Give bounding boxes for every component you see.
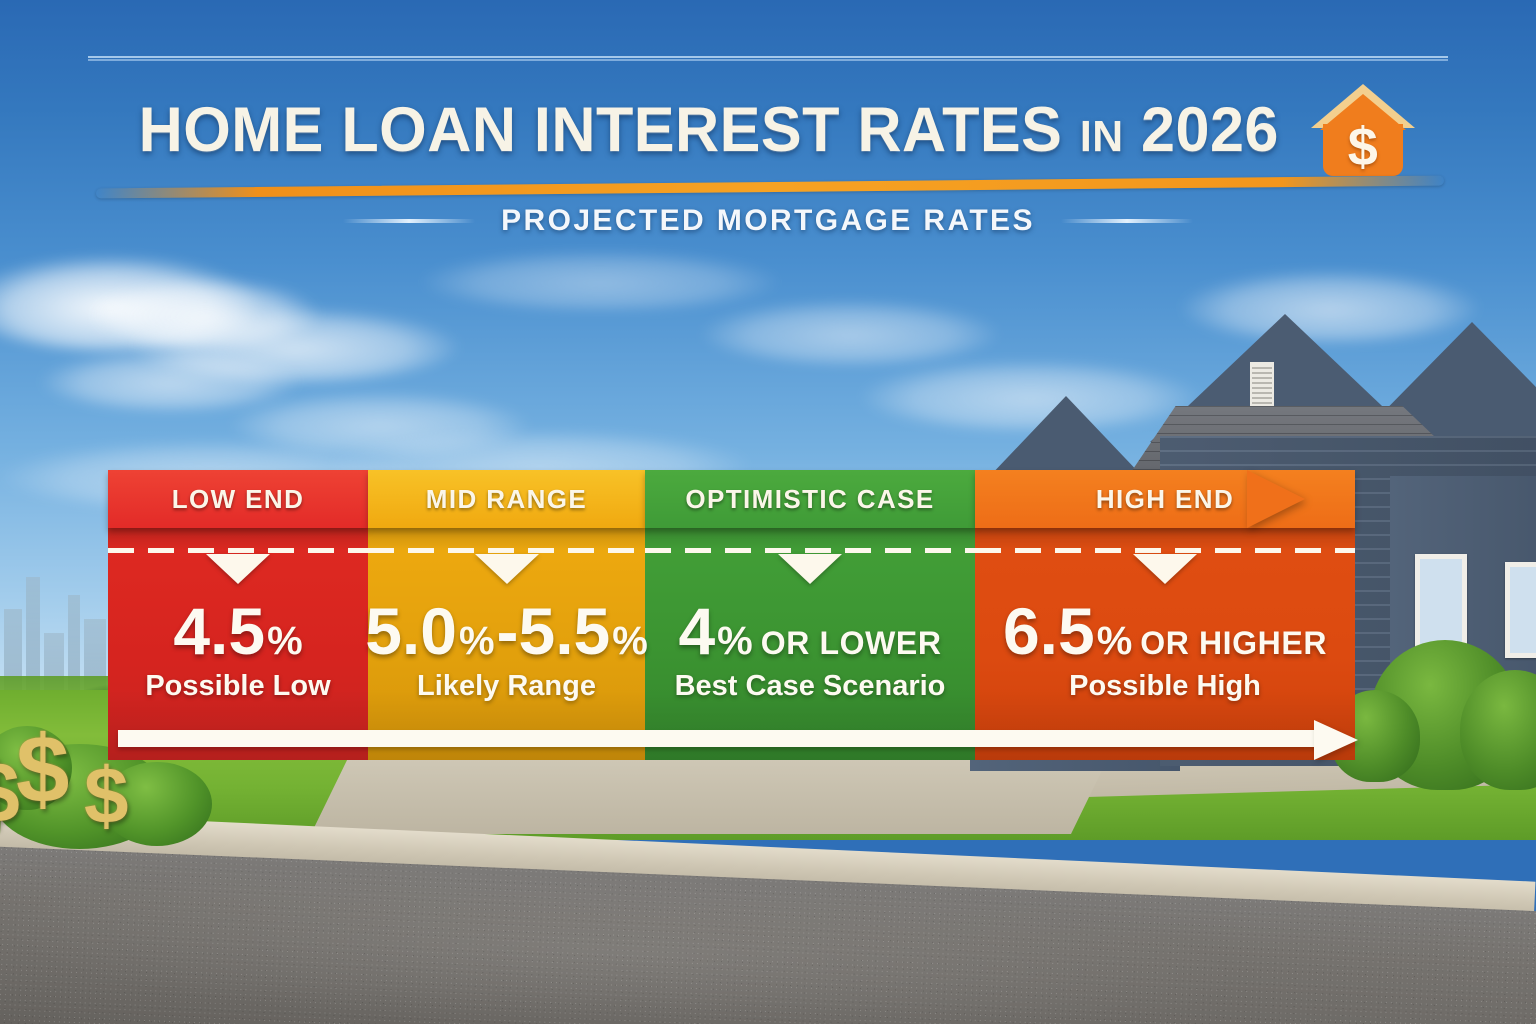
dollar-glyph: $ xyxy=(1311,116,1415,178)
cloud xyxy=(40,350,300,410)
cloud xyxy=(700,300,1000,364)
panel-mid-range[interactable]: MID RANGE 5.0 % -5.5 % Likely Range xyxy=(368,470,645,760)
panel-value-percent-2: % xyxy=(612,621,648,661)
panel-header-optimistic-case: OPTIMISTIC CASE xyxy=(645,470,975,528)
panel-header-label: HIGH END xyxy=(1096,484,1234,515)
subtitle-line-left xyxy=(343,219,475,223)
panel-sub-label: Possible Low xyxy=(108,670,368,703)
panel-sub-label: Likely Range xyxy=(368,670,645,703)
dollar-sign-icon: $ xyxy=(84,756,129,836)
panel-value-percent: % xyxy=(267,621,303,661)
subtitle-block: PROJECTED MORTGAGE RATES xyxy=(0,204,1536,238)
panel-row: LOW END 4.5 % Possible Low MID RANGE 5.0… xyxy=(108,470,1355,760)
progress-arrow-shaft xyxy=(118,730,1318,747)
house-dollar-icon: $ xyxy=(1311,82,1415,178)
page-title: HOME LOAN INTEREST RATES IN 2026 xyxy=(139,94,1279,166)
panel-header-mid-range: MID RANGE xyxy=(368,470,645,528)
panel-low-end[interactable]: LOW END 4.5 % Possible Low xyxy=(108,470,368,760)
panel-value-number: 4.5 xyxy=(173,598,265,664)
panel-value-number: 6.5 xyxy=(1003,598,1095,664)
panel-header-label: OPTIMISTIC CASE xyxy=(685,484,934,515)
panel-value-percent: % xyxy=(1097,621,1133,661)
panel-header-label: LOW END xyxy=(172,484,305,515)
subtitle-line-right xyxy=(1061,219,1193,223)
pointer-caret-icon xyxy=(778,554,842,584)
threshold-dashed-line xyxy=(975,548,1355,553)
rate-range-chart: LOW END 4.5 % Possible Low MID RANGE 5.0… xyxy=(108,470,1355,760)
progress-arrow-head-icon xyxy=(1314,720,1358,760)
panel-value-suffix: OR HIGHER xyxy=(1140,627,1327,659)
panel-value-row: 4.5 % xyxy=(108,598,368,664)
title-year-text: 2026 xyxy=(1141,95,1279,165)
threshold-dashed-line xyxy=(368,548,645,553)
threshold-dashed-line xyxy=(108,548,368,553)
panel-sub-label: Best Case Scenario xyxy=(645,670,975,703)
pointer-caret-icon xyxy=(475,554,539,584)
title-block: HOME LOAN INTEREST RATES IN 2026 $ xyxy=(0,82,1536,178)
panel-value-number: 5.0 xyxy=(365,598,457,664)
panel-sub-label: Possible High xyxy=(975,670,1355,703)
gable-vent-icon xyxy=(1250,362,1274,406)
panel-value-percent: % xyxy=(459,621,495,661)
threshold-dashed-line xyxy=(645,548,975,553)
panel-value-row: 6.5 % OR HIGHER xyxy=(975,598,1355,664)
panel-value-row: 4 % OR LOWER xyxy=(645,598,975,664)
panel-value-suffix: OR LOWER xyxy=(761,627,942,659)
pointer-caret-icon xyxy=(1133,554,1197,584)
panel-value-number-2: -5.5 xyxy=(497,598,611,664)
title-in-text: IN xyxy=(1080,112,1124,161)
cloud xyxy=(420,250,780,310)
panel-optimistic-case[interactable]: OPTIMISTIC CASE 4 % OR LOWER Best Case S… xyxy=(645,470,975,760)
dollar-sign-icon: $ xyxy=(16,722,69,818)
panel-header-low-end: LOW END xyxy=(108,470,368,528)
pointer-caret-icon xyxy=(206,554,270,584)
dollar-sign-icon: $ xyxy=(0,750,20,836)
panel-value-percent: % xyxy=(717,621,753,661)
panel-value-row: 5.0 % -5.5 % xyxy=(368,598,645,664)
panel-value-number: 4 xyxy=(678,598,715,664)
subtitle-text: PROJECTED MORTGAGE RATES xyxy=(501,204,1035,238)
header-arrow-tip-icon xyxy=(1247,470,1305,528)
title-main-text: HOME LOAN INTEREST RATES xyxy=(139,95,1063,165)
panel-header-label: MID RANGE xyxy=(426,484,587,515)
top-divider-rule xyxy=(88,56,1448,61)
